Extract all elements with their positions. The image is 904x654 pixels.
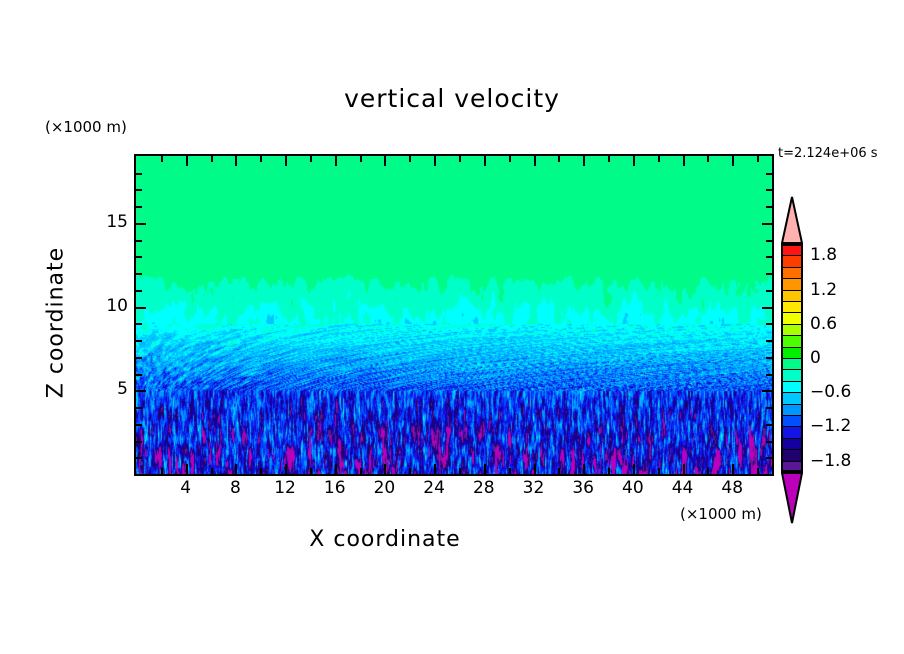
- colorbar-top-cap-icon: [781, 196, 803, 244]
- x-tick-bottom: [633, 464, 635, 474]
- x-tick-label: 8: [215, 478, 255, 498]
- y-tick-left: [136, 374, 142, 376]
- y-tick-right: [766, 374, 772, 376]
- y-tick-left: [136, 290, 142, 292]
- colorbar-tick-label: −0.6: [810, 382, 851, 402]
- colorbar-band: [781, 335, 803, 346]
- x-tick-bottom: [186, 464, 188, 474]
- x-tick-top: [434, 156, 436, 166]
- y-tick-right: [766, 256, 772, 258]
- y-tick-left: [136, 189, 142, 191]
- colorbar-band: [781, 381, 803, 392]
- y-tick-right: [762, 390, 772, 392]
- x-tick-bottom: [608, 468, 610, 474]
- y-tick-right: [762, 223, 772, 225]
- x-tick-bottom: [509, 468, 511, 474]
- x-tick-bottom: [683, 464, 685, 474]
- y-tick-left: [136, 424, 142, 426]
- x-tick-bottom: [235, 464, 237, 474]
- x-tick-bottom: [534, 464, 536, 474]
- y-tick-left: [136, 340, 142, 342]
- y-tick-right: [766, 441, 772, 443]
- colorbar[interactable]: [781, 244, 803, 472]
- colorbar-band: [781, 392, 803, 403]
- x-axis-unit-label: (×1000 m): [680, 505, 762, 523]
- colorbar-band: [781, 278, 803, 289]
- x-tick-label: 20: [364, 478, 404, 498]
- x-tick-label: 24: [414, 478, 454, 498]
- x-tick-bottom: [360, 468, 362, 474]
- x-tick-label: 36: [563, 478, 603, 498]
- y-tick-left: [136, 441, 142, 443]
- y-tick-right: [766, 424, 772, 426]
- x-tick-top: [509, 156, 511, 162]
- y-tick-left: [136, 173, 142, 175]
- y-axis-title: Z coordinate: [44, 203, 69, 443]
- y-tick-right: [766, 173, 772, 175]
- time-annotation: t=2.124e+06 s: [778, 146, 878, 161]
- colorbar-band: [781, 461, 803, 472]
- x-tick-label: 4: [166, 478, 206, 498]
- x-tick-bottom: [434, 464, 436, 474]
- x-tick-top: [310, 156, 312, 162]
- x-tick-bottom: [707, 468, 709, 474]
- colorbar-band: [781, 404, 803, 415]
- x-axis-title: X coordinate: [0, 527, 770, 552]
- y-tick-left: [136, 240, 142, 242]
- x-tick-bottom: [732, 464, 734, 474]
- colorbar-band: [781, 312, 803, 323]
- x-tick-label: 32: [514, 478, 554, 498]
- x-tick-bottom: [161, 468, 163, 474]
- y-tick-left: [136, 390, 146, 392]
- x-tick-top: [409, 156, 411, 162]
- colorbar-band: [781, 358, 803, 369]
- x-tick-top: [558, 156, 560, 162]
- colorbar-band: [781, 324, 803, 335]
- x-tick-bottom: [757, 468, 759, 474]
- colorbar-band: [781, 244, 803, 255]
- y-tick-left: [136, 307, 146, 309]
- x-tick-top: [335, 156, 337, 166]
- colorbar-band: [781, 369, 803, 380]
- x-tick-bottom: [558, 468, 560, 474]
- x-tick-label: 44: [663, 478, 703, 498]
- x-tick-top: [211, 156, 213, 162]
- x-tick-top: [360, 156, 362, 162]
- x-tick-top: [757, 156, 759, 162]
- x-tick-top: [658, 156, 660, 162]
- y-tick-left: [136, 256, 142, 258]
- y-tick-right: [766, 240, 772, 242]
- z-axis-unit-label: (×1000 m): [45, 118, 127, 136]
- x-tick-top: [608, 156, 610, 162]
- colorbar-bottom-cap-icon: [781, 472, 803, 524]
- x-tick-top: [161, 156, 163, 162]
- x-tick-bottom: [583, 464, 585, 474]
- y-tick-right: [766, 189, 772, 191]
- x-tick-bottom: [335, 464, 337, 474]
- plot-title-text: vertical velocity: [344, 84, 560, 113]
- colorbar-tick-label: 0: [810, 348, 821, 368]
- x-tick-bottom: [384, 464, 386, 474]
- y-tick-left: [136, 323, 142, 325]
- colorbar-tick-label: −1.8: [810, 451, 851, 471]
- y-tick-left: [136, 457, 142, 459]
- y-tick-label: 10: [88, 296, 128, 316]
- x-tick-bottom: [310, 468, 312, 474]
- colorbar-tick-label: 1.2: [810, 280, 837, 300]
- x-tick-bottom: [211, 468, 213, 474]
- y-tick-right: [766, 340, 772, 342]
- contour-plot-area[interactable]: [134, 154, 774, 476]
- y-tick-left: [136, 223, 146, 225]
- colorbar-tick-label: 0.6: [810, 314, 837, 334]
- y-tick-right: [766, 457, 772, 459]
- y-tick-right: [766, 407, 772, 409]
- x-tick-top: [583, 156, 585, 166]
- x-tick-bottom: [484, 464, 486, 474]
- y-tick-right: [762, 307, 772, 309]
- colorbar-band: [781, 255, 803, 266]
- y-tick-left: [136, 407, 142, 409]
- x-tick-label: 28: [464, 478, 504, 498]
- y-tick-left: [136, 357, 142, 359]
- colorbar-band: [781, 301, 803, 312]
- x-tick-bottom: [409, 468, 411, 474]
- y-tick-label: 5: [88, 379, 128, 399]
- x-tick-top: [534, 156, 536, 166]
- y-tick-left: [136, 206, 142, 208]
- colorbar-band: [781, 449, 803, 460]
- x-tick-label: 40: [613, 478, 653, 498]
- y-tick-right: [766, 323, 772, 325]
- x-tick-label: 48: [712, 478, 752, 498]
- x-tick-top: [732, 156, 734, 166]
- x-tick-bottom: [459, 468, 461, 474]
- colorbar-band: [781, 267, 803, 278]
- colorbar-band: [781, 290, 803, 301]
- x-tick-top: [707, 156, 709, 162]
- colorbar-tick-label: 1.8: [810, 245, 837, 265]
- x-tick-top: [235, 156, 237, 166]
- x-tick-label: 16: [315, 478, 355, 498]
- x-tick-label: 12: [265, 478, 305, 498]
- velocity-field-canvas: [136, 156, 772, 474]
- y-tick-right: [766, 273, 772, 275]
- y-tick-right: [766, 357, 772, 359]
- y-tick-left: [136, 273, 142, 275]
- x-tick-bottom: [285, 464, 287, 474]
- x-tick-top: [683, 156, 685, 166]
- x-tick-top: [384, 156, 386, 166]
- x-tick-top: [633, 156, 635, 166]
- colorbar-band: [781, 438, 803, 449]
- x-tick-top: [285, 156, 287, 166]
- x-tick-bottom: [260, 468, 262, 474]
- colorbar-band: [781, 426, 803, 437]
- colorbar-band: [781, 347, 803, 358]
- x-tick-top: [459, 156, 461, 162]
- page-title: vertical velocity: [0, 84, 904, 113]
- x-tick-bottom: [658, 468, 660, 474]
- x-tick-top: [186, 156, 188, 166]
- y-tick-right: [766, 206, 772, 208]
- x-tick-top: [484, 156, 486, 166]
- x-tick-top: [260, 156, 262, 162]
- y-tick-label: 15: [88, 212, 128, 232]
- colorbar-band: [781, 415, 803, 426]
- y-tick-right: [766, 290, 772, 292]
- colorbar-tick-label: −1.2: [810, 416, 851, 436]
